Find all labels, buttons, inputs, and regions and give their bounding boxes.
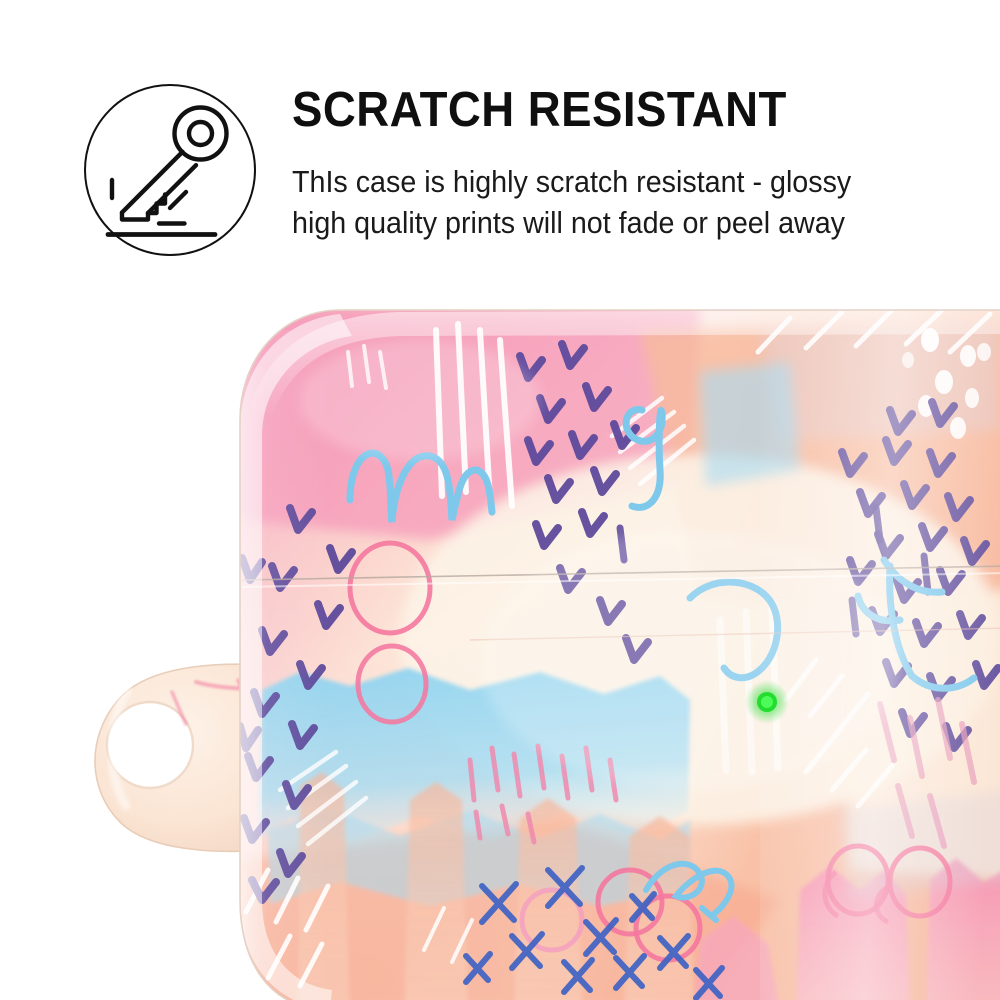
feature-description: ThIs case is highly scratch resistant - … <box>292 162 912 243</box>
case-body <box>230 300 1000 1000</box>
feature-header: SCRATCH RESISTANT ThIs case is highly sc… <box>0 0 1000 300</box>
product-feature-page: SCRATCH RESISTANT ThIs case is highly sc… <box>0 0 1000 1000</box>
feature-description-line-2: high quality prints will not fade or pee… <box>292 203 912 244</box>
charging-led <box>745 680 789 724</box>
feature-description-line-1: ThIs case is highly scratch resistant - … <box>292 162 912 203</box>
key-scratching-surface-icon <box>84 84 256 256</box>
product-photo <box>0 290 1000 1000</box>
page-title: SCRATCH RESISTANT <box>292 86 787 135</box>
